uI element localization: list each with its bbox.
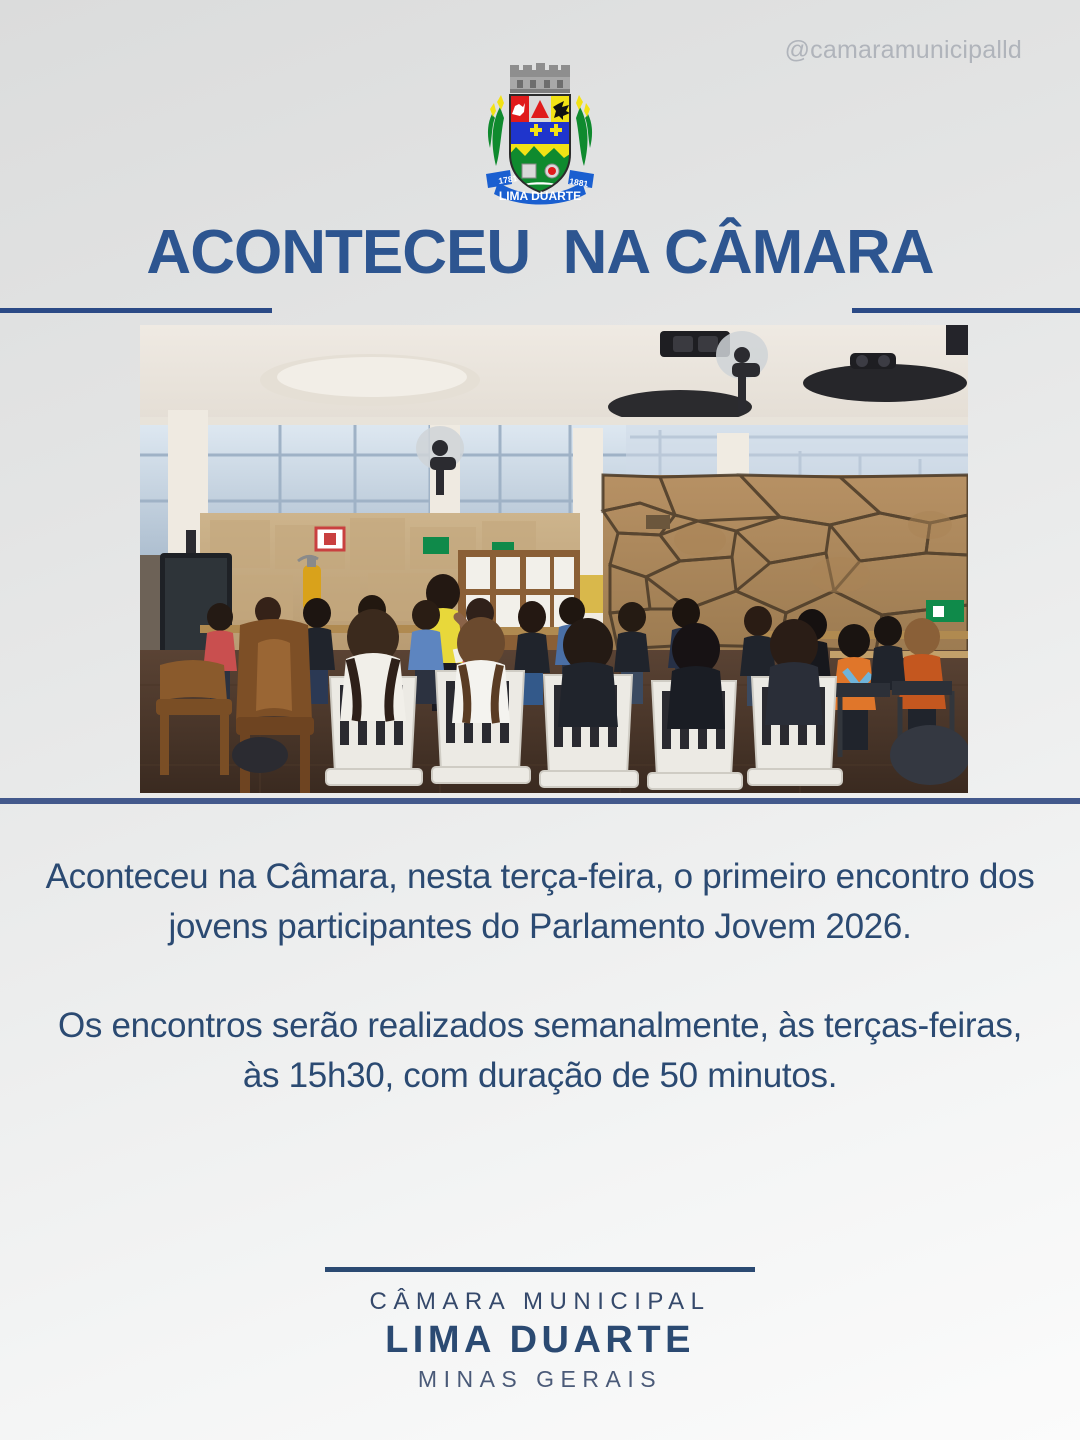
body-paragraph-2: Os encontros serão realizados semanalmen… — [40, 1001, 1040, 1100]
footer: CÂMARA MUNICIPAL LIMA DUARTE MINAS GERAI… — [0, 1288, 1080, 1393]
crest-ribbon-text: LIMA DUARTE — [499, 189, 581, 203]
crest-date-left: 1781 — [498, 173, 519, 186]
crest-date-right: 1881 — [569, 176, 590, 189]
body-copy: Aconteceu na Câmara, nesta terça-feira, … — [40, 852, 1040, 1100]
meeting-photo-illustration — [140, 325, 968, 793]
divider-right — [852, 308, 1080, 313]
footer-divider — [325, 1267, 755, 1272]
page-title-light: ACONTECEU — [146, 218, 530, 287]
page-title-bold: NA CÂMARA — [563, 218, 934, 287]
crest-container: 1781 1881 LIMA DUARTE — [0, 62, 1080, 207]
social-handle: @camaramunicipalld — [785, 36, 1022, 65]
footer-line-1: CÂMARA MUNICIPAL — [0, 1288, 1080, 1316]
coat-of-arms-icon: 1781 1881 LIMA DUARTE — [470, 62, 610, 207]
divider-left — [0, 308, 272, 313]
body-paragraph-1: Aconteceu na Câmara, nesta terça-feira, … — [40, 852, 1040, 951]
footer-line-2: LIMA DUARTE — [0, 1319, 1080, 1362]
meeting-photo — [140, 325, 968, 793]
page-title: ACONTECEU NA CÂMARA — [0, 222, 1080, 284]
footer-line-3: MINAS GERAIS — [0, 1366, 1080, 1393]
divider-below-photo — [0, 798, 1080, 804]
